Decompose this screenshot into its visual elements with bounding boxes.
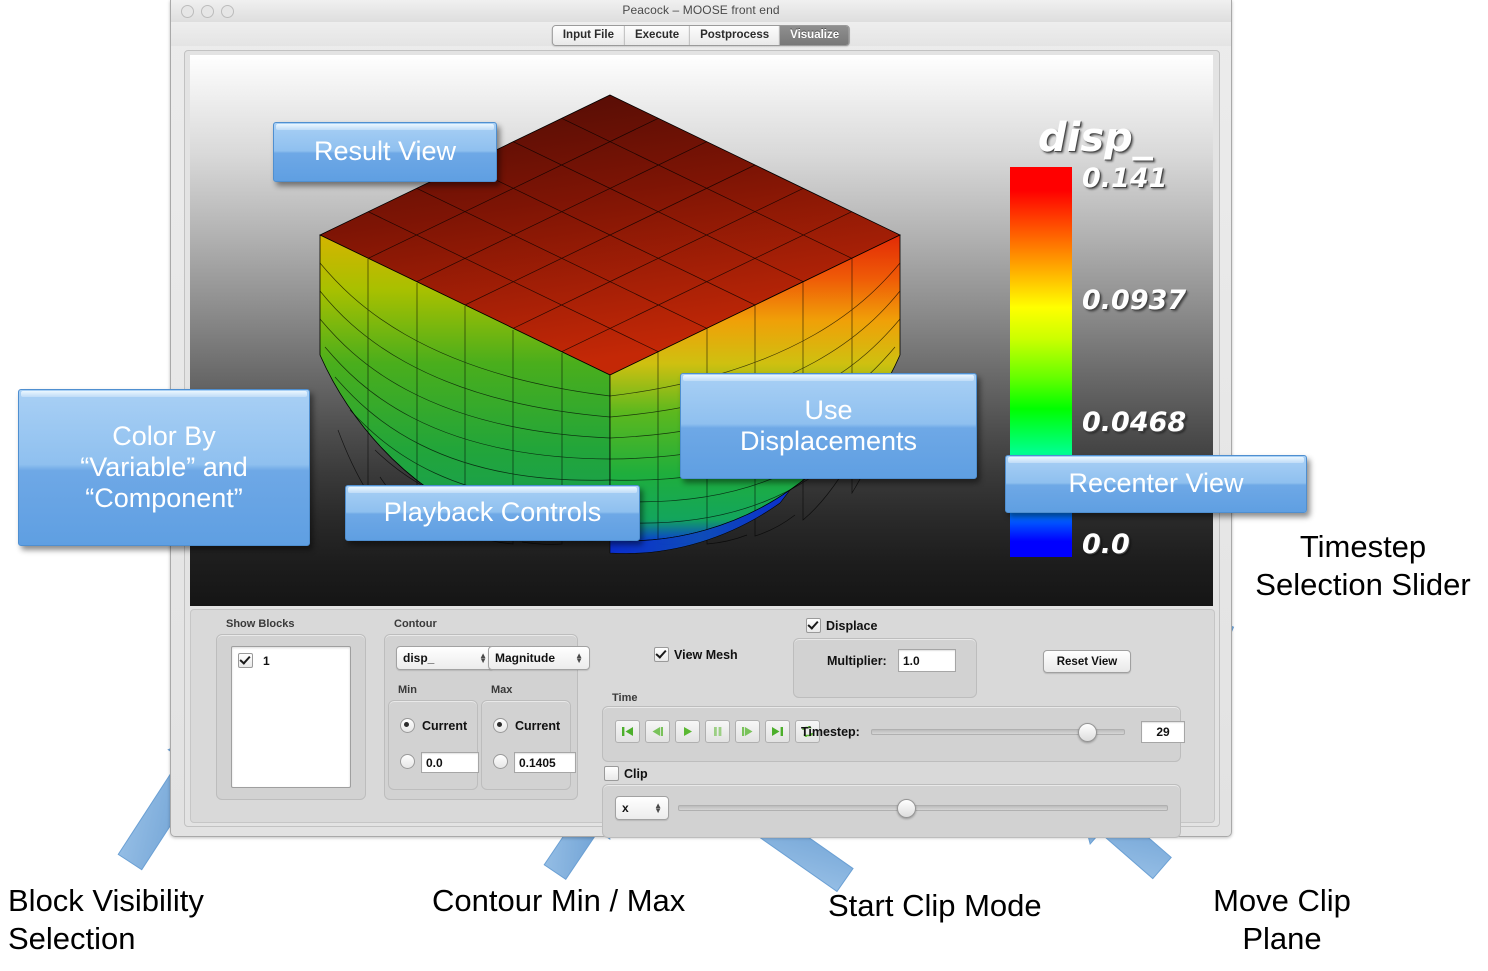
callout-color-by: Color By “Variable” and “Component” (18, 389, 310, 546)
label-move-clip-plane: Move Clip Plane (1182, 882, 1382, 958)
contour-min-input[interactable]: 0.0 (421, 752, 479, 773)
contour-variable-value: disp_ (403, 651, 434, 665)
contour-min-label: Min (398, 684, 417, 696)
colorbar-tick-min: 0.0 (1082, 529, 1130, 560)
contour-component-value: Magnitude (495, 651, 555, 665)
callout-recenter-view: Recenter View (1005, 455, 1307, 513)
step-backward-icon[interactable] (645, 720, 670, 743)
displace-checkbox-row[interactable]: Displace (806, 618, 877, 633)
show-blocks-list[interactable]: 1 (231, 646, 351, 788)
radio-indicator[interactable] (493, 718, 508, 733)
play-icon[interactable] (675, 720, 700, 743)
callout-use-displacements: Use Displacements (680, 373, 977, 479)
clip-checkbox[interactable] (604, 766, 619, 781)
clip-slider-track[interactable] (678, 805, 1168, 811)
contour-variable-select[interactable]: disp_ ▲▼ (396, 646, 494, 670)
clip-axis-value: x (622, 801, 629, 815)
clip-slider-knob[interactable] (897, 799, 916, 818)
skip-to-end-icon[interactable] (765, 720, 790, 743)
contour-min-group (388, 700, 478, 790)
contour-max-label: Max (491, 684, 512, 696)
contour-component-select[interactable]: Magnitude ▲▼ (488, 646, 590, 670)
view-mesh-checkbox[interactable] (654, 647, 669, 662)
chevron-updown-icon: ▲▼ (479, 653, 487, 663)
block-list-item-1[interactable]: 1 (238, 653, 270, 668)
displace-label: Displace (826, 619, 877, 633)
clip-label: Clip (624, 767, 648, 781)
radio-indicator[interactable] (400, 718, 415, 733)
colorbar-tick-max: 0.141 (1082, 163, 1167, 194)
window-titlebar[interactable]: Peacock – MOOSE front end (171, 0, 1231, 23)
timestep-value-input[interactable]: 29 (1141, 721, 1185, 743)
label-timestep-selection-slider: Timestep Selection Slider (1238, 528, 1488, 604)
callout-playback-controls-text: Playback Controls (374, 495, 612, 530)
contour-max-current-label: Current (515, 719, 560, 733)
reset-view-button[interactable]: Reset View (1043, 650, 1131, 673)
contour-max-value-radio[interactable] (493, 754, 508, 769)
colorbar-title: disp_ (1038, 115, 1153, 161)
displace-checkbox[interactable] (806, 618, 821, 633)
radio-indicator[interactable] (493, 754, 508, 769)
contour-max-group (481, 700, 571, 790)
skip-to-start-icon[interactable] (615, 720, 640, 743)
callout-result-view-text: Result View (304, 134, 466, 169)
clip-group (602, 784, 1181, 838)
radio-indicator[interactable] (400, 754, 415, 769)
multiplier-label: Multiplier: (827, 654, 887, 668)
contour-max-current-radio[interactable]: Current (493, 718, 560, 733)
window-title: Peacock – MOOSE front end (171, 3, 1231, 17)
callout-result-view: Result View (273, 122, 497, 182)
label-contour-min-max: Contour Min / Max (432, 882, 772, 920)
time-group-label: Time (612, 692, 637, 704)
tab-input-file[interactable]: Input File (553, 26, 625, 45)
label-block-visibility-selection: Block Visibility Selection (8, 882, 308, 958)
contour-min-current-label: Current (422, 719, 467, 733)
callout-playback-controls: Playback Controls (345, 485, 640, 541)
clip-checkbox-row[interactable]: Clip (604, 766, 648, 781)
contour-max-input[interactable]: 0.1405 (514, 752, 576, 773)
contour-label: Contour (394, 618, 437, 630)
contour-min-value-radio[interactable] (400, 754, 415, 769)
callout-recenter-view-text: Recenter View (1058, 466, 1253, 501)
pause-icon[interactable] (705, 720, 730, 743)
tab-bar: Input File Execute Postprocess Visualize (171, 22, 1231, 46)
chevron-updown-icon: ▲▼ (654, 803, 662, 813)
timestep-slider-knob[interactable] (1078, 723, 1097, 742)
clip-axis-select[interactable]: x ▲▼ (615, 796, 669, 820)
tab-visualize[interactable]: Visualize (780, 26, 849, 45)
visualize-control-panel: Show Blocks 1 Contour disp_ ▲▼ Magnitude (190, 609, 1215, 823)
tab-postprocess[interactable]: Postprocess (690, 26, 780, 45)
colorbar-tick-3: 0.0468 (1082, 407, 1186, 438)
view-mesh-label: View Mesh (674, 648, 738, 662)
block-1-checkbox[interactable] (238, 653, 253, 668)
callout-color-by-text: Color By “Variable” and “Component” (70, 419, 258, 517)
show-blocks-label: Show Blocks (226, 618, 294, 630)
timestep-label: Timestep: (801, 725, 860, 739)
step-forward-icon[interactable] (735, 720, 760, 743)
colorbar-tick-2: 0.0937 (1082, 285, 1186, 316)
multiplier-input[interactable]: 1.0 (898, 649, 956, 672)
tab-execute[interactable]: Execute (625, 26, 690, 45)
chevron-updown-icon: ▲▼ (575, 653, 583, 663)
label-start-clip-mode: Start Clip Mode (828, 887, 1118, 925)
playback-buttons[interactable] (615, 720, 820, 743)
callout-use-displacements-text: Use Displacements (730, 393, 927, 460)
block-1-label: 1 (263, 654, 270, 668)
view-mesh-checkbox-row[interactable]: View Mesh (654, 647, 738, 662)
contour-min-current-radio[interactable]: Current (400, 718, 467, 733)
